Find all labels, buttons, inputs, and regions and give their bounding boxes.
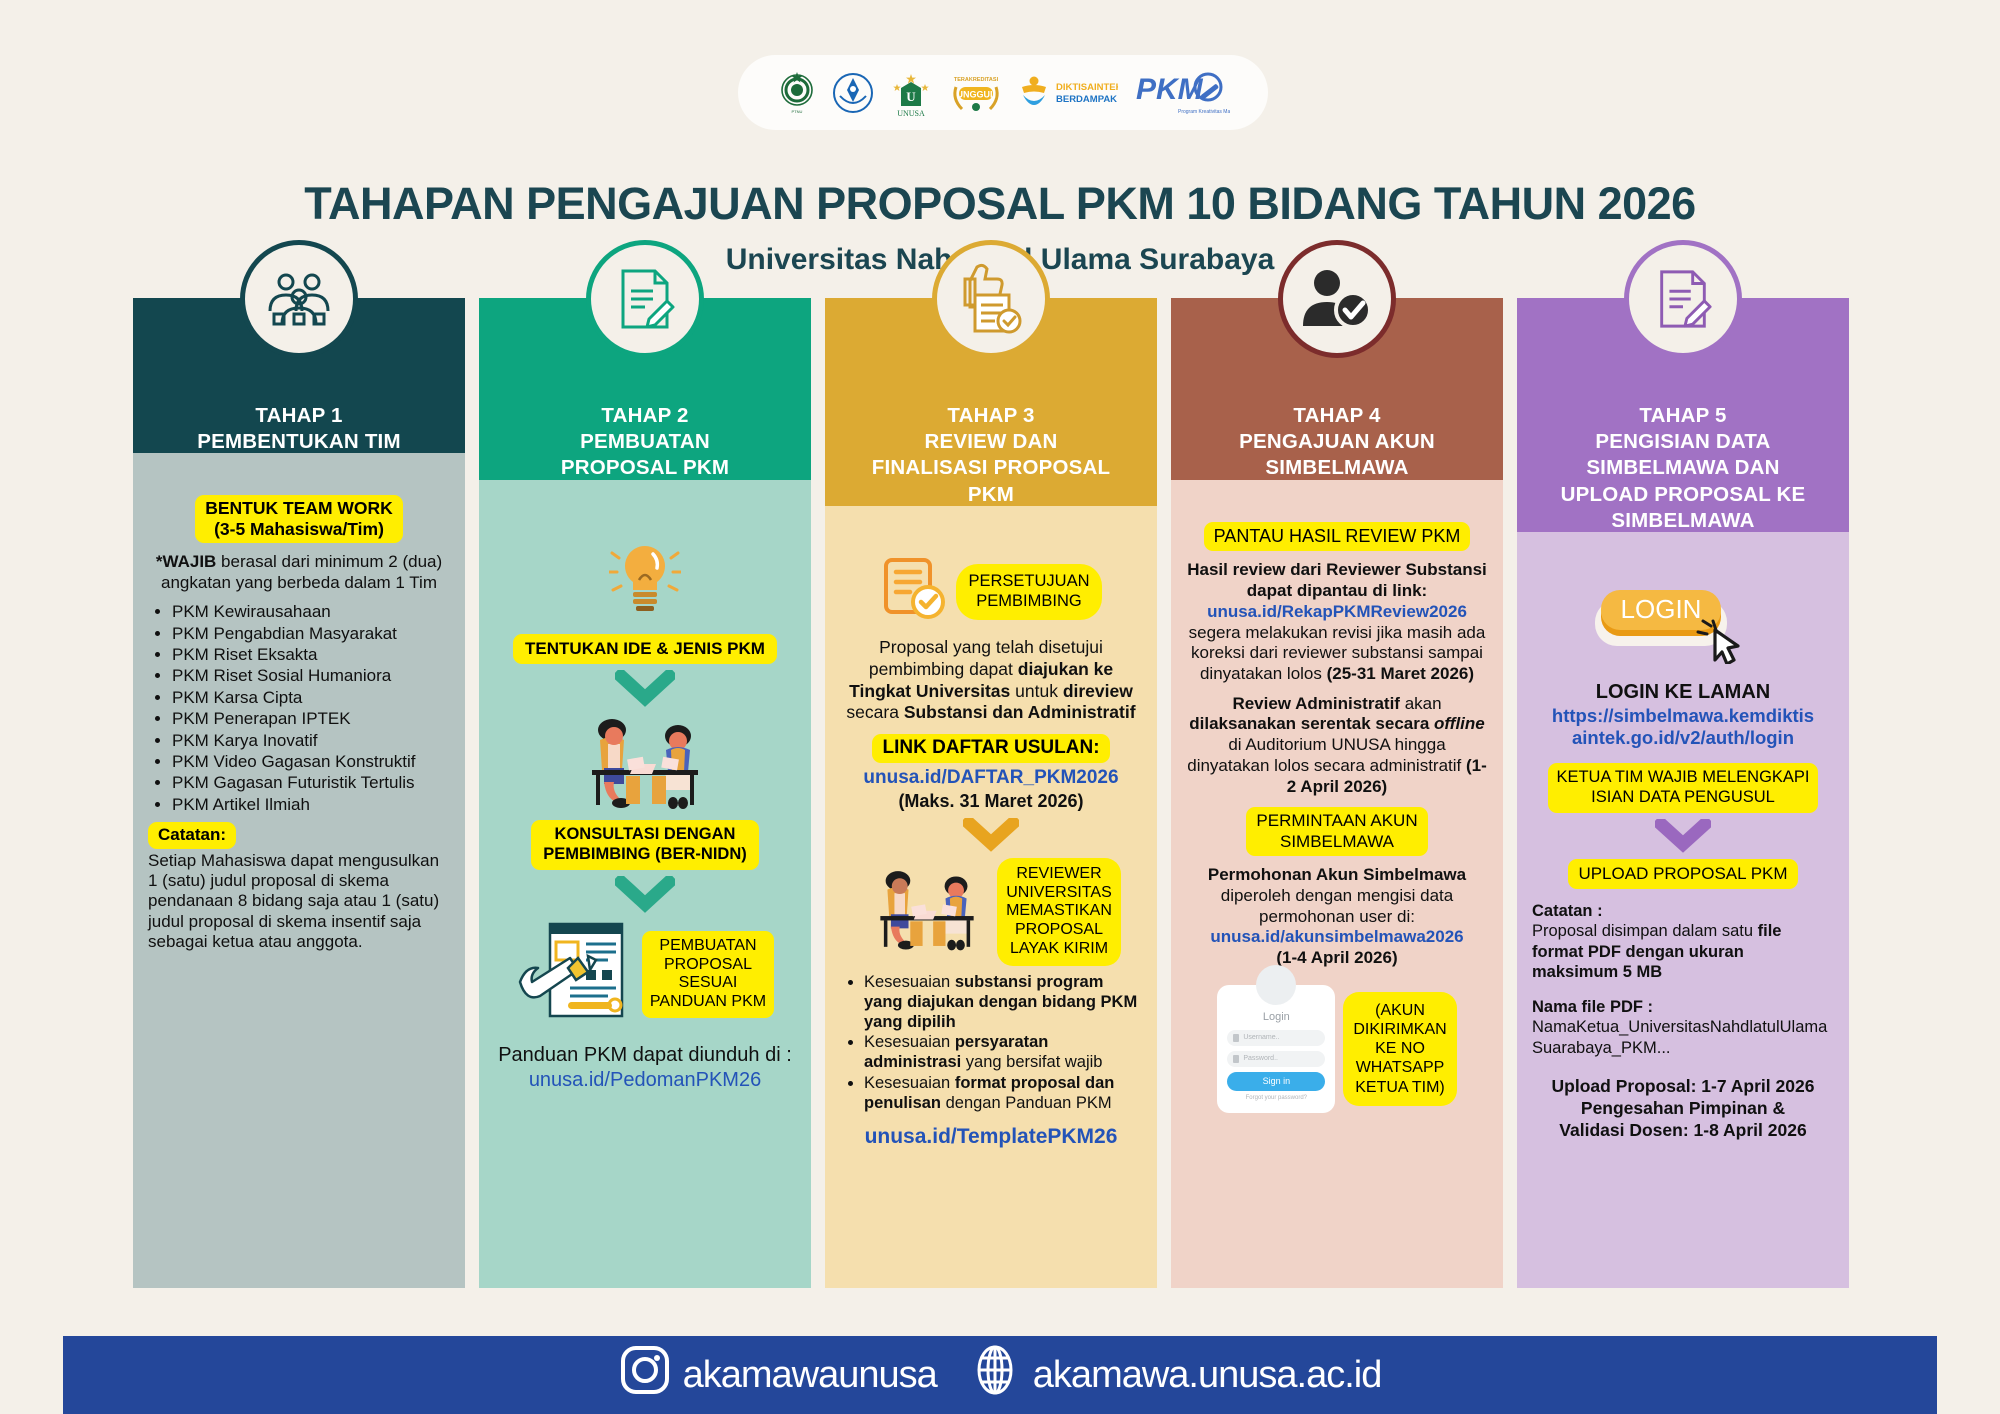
list-item: PKM Penerapan IPTEK [172, 709, 450, 729]
svg-text:Program Kreativitas Mahasiswa: Program Kreativitas Mahasiswa [1178, 109, 1230, 115]
stage-4-badge-3-line2: DIKIRIMKAN [1353, 1021, 1446, 1038]
user-check-icon [1278, 240, 1396, 358]
stage-1-heading-line2: PEMBENTUKAN TIM [145, 429, 453, 455]
svg-text:TERAKREDITASI: TERAKREDITASI [954, 77, 999, 83]
website-url: akamawa.unusa.ac.id [1033, 1354, 1382, 1397]
stage-5-heading-line3: SIMBELMAWA DAN [1529, 455, 1837, 481]
stage-5-dates-line3: Validasi Dosen: 1-8 April 2026 [1532, 1120, 1834, 1142]
svg-text:PTNU: PTNU [792, 109, 803, 114]
stage-3-link-label: LINK DAFTAR USULAN: [872, 734, 1109, 763]
stage-3-badge-2-line2: UNIVERSITAS [1006, 884, 1112, 901]
chevron-down-icon-3 [963, 818, 1019, 852]
stage-2-badge-3-line1: PEMBUATAN [659, 937, 756, 954]
document-pencil-purple-icon [1624, 240, 1742, 358]
chevron-down-icon [615, 670, 675, 708]
list-item: Kesesuaian format proposal dan penulisan… [864, 1074, 1142, 1114]
stage-5-login-url-line1: https://simbelmawa.kemdiktis [1552, 705, 1814, 726]
lightbulb-icon [494, 538, 796, 624]
stage-card-4: TAHAP 4 PENGAJUAN AKUN SIMBELMAWA PANTAU… [1171, 298, 1503, 1288]
stage-5-filename-label: Nama file PDF : [1532, 997, 1834, 1017]
login-form-mockup: Login Username.. Password.. Sign in Forg… [1217, 985, 1335, 1113]
stage-4-badge-3: (AKUN DIKIRIMKAN KE NO WHATSAPP KETUA TI… [1343, 992, 1456, 1106]
stage-2-badge-2: KONSULTASI DENGAN PEMBIMBING (BER-NIDN) [531, 820, 759, 870]
list-item: PKM Riset Eksakta [172, 645, 450, 665]
stage-3-badge-2-line1: REVIEWER [1016, 865, 1101, 882]
stage-3-badge-2-line5: LAYAK KIRIM [1010, 940, 1108, 957]
instagram-icon [619, 1344, 671, 1406]
stage-2-body: TENTUKAN IDE & JENIS PKM KONSULTASI DENG… [479, 480, 811, 1288]
document-approved-thumbsup-icon [932, 240, 1050, 358]
stage-3-heading-line4: PKM [837, 482, 1145, 508]
stage-3-badge-2: REVIEWER UNIVERSITAS MEMASTIKAN PROPOSAL… [997, 858, 1121, 966]
stage-5-heading-line2: PENGISIAN DATA [1529, 429, 1837, 455]
stage-2-pedoman-link[interactable]: unusa.id/PedomanPKM26 [494, 1068, 796, 1093]
stage-2-badge-3: PEMBUATAN PROPOSAL SESUAI PANDUAN PKM [642, 931, 774, 1019]
stage-5-badge-1-line2: ISIAN DATA PENGUSUL [1591, 788, 1775, 806]
login-button-graphic[interactable]: LOGIN [1583, 580, 1783, 670]
stages-container: TAHAP 1 PEMBENTUKAN TIM BENTUK TEAM WORK… [133, 298, 1873, 1288]
stage-4-heading-line2: PENGAJUAN AKUN [1183, 429, 1491, 455]
list-item: PKM Karya Inovatif [172, 731, 450, 751]
stage-3-badge-1-line1: PERSETUJUAN [968, 572, 1089, 590]
stage-4-badge-2: PERMINTAAN AKUN SIMBELMAWA [1246, 807, 1427, 856]
stage-5-note-text: Proposal disimpan dalam satu file format… [1532, 921, 1834, 982]
kemdikbud-tutwurihandayani-logo [832, 68, 874, 118]
stage-4-paragraph-3: Permohonan Akun Simbelmawa diperoleh den… [1186, 865, 1488, 969]
stage-4-paragraph-2: Review Administratif akan dilaksanakan s… [1186, 694, 1488, 798]
stage-4-badge-3-line3: KE NO [1375, 1040, 1425, 1057]
stage-card-2: TAHAP 2 PEMBUATAN PROPOSAL PKM TENTUKAN … [479, 298, 811, 1288]
stage-3-deadline: (Maks. 31 Maret 2026) [840, 790, 1142, 812]
stage-2-badge-3-line2: PROPOSAL [664, 956, 752, 973]
login-mock-username[interactable]: Username.. [1227, 1030, 1325, 1046]
footer-bar: akamawaunusa akamawa.unusa.ac.id [63, 1336, 1937, 1414]
stage-4-badge-3-line4: WHATSAPP [1356, 1059, 1445, 1076]
stage-1-fields-list: PKM KewirausahaanPKM Pengabdian Masyarak… [172, 602, 450, 815]
stage-5-badge-1-line1: KETUA TIM WAJIB MELENGKAPI [1556, 768, 1809, 786]
list-item: Kesesuaian persyaratan administrasi yang… [864, 1033, 1142, 1073]
stage-1-wajib-bold: *WAJIB [156, 552, 216, 571]
stage-card-1: TAHAP 1 PEMBENTUKAN TIM BENTUK TEAM WORK… [133, 298, 465, 1288]
stage-5-dates-line2: Pengesahan Pimpinan & [1532, 1098, 1834, 1120]
stage-4-badge-3-line1: (AKUN [1375, 1002, 1425, 1019]
stage-5-heading-line1: TAHAP 5 [1529, 403, 1837, 429]
stage-5-note-label: Catatan : [1532, 901, 1834, 921]
stage-2-badge-2-line1: KONSULTASI DENGAN [555, 825, 736, 843]
stage-3-daftar-link[interactable]: unusa.id/DAFTAR_PKM2026 [840, 766, 1142, 789]
two-people-at-table-icon [494, 714, 796, 816]
terakreditasi-unggul-logo: TERAKREDITASIUNGGUL [948, 68, 1004, 118]
stage-5-dates-line1: Upload Proposal: 1-7 April 2026 [1532, 1076, 1834, 1098]
stage-5-heading-line5: SIMBELMAWA [1529, 508, 1837, 534]
two-people-reviewing-icon [861, 863, 993, 961]
stage-3-badge-1: PERSETUJUAN PEMBIMBING [956, 564, 1101, 620]
stage-2-footer-text: Panduan PKM dapat diunduh di : [494, 1043, 796, 1068]
stage-1-wajib-text: *WAJIB berasal dari minimum 2 (dua) angk… [148, 552, 450, 594]
stage-card-3: TAHAP 3 REVIEW DAN FINALISASI PROPOSAL P… [825, 298, 1157, 1288]
stage-3-badge-2-line3: MEMASTIKAN [1006, 902, 1112, 919]
stage-3-heading-line1: TAHAP 3 [837, 403, 1145, 429]
stage-5-login-heading: LOGIN KE LAMAN [1532, 680, 1834, 705]
stage-3-paragraph: Proposal yang telah disetujui pembimbing… [840, 637, 1142, 725]
stage-1-heading-line1: TAHAP 1 [145, 403, 453, 429]
stage-2-heading-line2: PEMBUATAN [491, 429, 799, 455]
list-item: PKM Gagasan Futuristik Tertulis [172, 773, 450, 793]
page-title: TAHAPAN PENGAJUAN PROPOSAL PKM 10 BIDANG… [0, 178, 2000, 230]
stage-5-login-url[interactable]: https://simbelmawa.kemdiktis aintek.go.i… [1532, 705, 1834, 749]
avatar-placeholder-icon [1256, 965, 1296, 1005]
svg-text:UNGGUL: UNGGUL [957, 89, 996, 99]
stage-2-badge-2-line2: PEMBIMBING (BER-NIDN) [543, 845, 747, 863]
stage-4-body: PANTAU HASIL REVIEW PKM Hasil review dar… [1171, 480, 1503, 1288]
login-mock-password[interactable]: Password.. [1227, 1051, 1325, 1067]
stage-3-heading-line3: FINALISASI PROPOSAL [837, 455, 1145, 481]
list-item: PKM Artikel Ilmiah [172, 795, 450, 815]
document-pencil-icon [586, 240, 704, 358]
login-mock-forgot-link[interactable]: Forgot your password? [1227, 1095, 1325, 1102]
stage-1-note-label: Catatan: [148, 822, 236, 848]
team-group-icon [240, 240, 358, 358]
stage-3-template-link[interactable]: unusa.id/TemplatePKM26 [840, 1124, 1142, 1150]
stage-5-badge-1: KETUA TIM WAJIB MELENGKAPI ISIAN DATA PE… [1548, 763, 1817, 813]
stage-5-body: LOGIN LOGIN KE LAMAN https://simbelmawa.… [1517, 532, 1849, 1288]
globe-icon [969, 1344, 1021, 1406]
svg-text:BERDAMPAK: BERDAMPAK [1056, 94, 1117, 105]
unsa-logo: UUNUSA [888, 68, 934, 118]
chevron-down-icon-5 [1655, 819, 1711, 853]
stage-3-heading-line2: REVIEW DAN [837, 429, 1145, 455]
svg-text:PKM: PKM [1136, 73, 1204, 106]
stage-5-login-url-line2: aintek.go.id/v2/auth/login [1572, 727, 1794, 748]
stage-4-badge-2-line2: SIMBELMAWA [1280, 832, 1394, 851]
list-item: Kesesuaian substansi program yang diajuk… [864, 973, 1142, 1032]
svg-text:UNUSA: UNUSA [897, 109, 925, 118]
svg-text:LOGIN: LOGIN [1621, 594, 1702, 624]
stage-1-note-text: Setiap Mahasiswa dapat mengusulkan 1 (sa… [148, 851, 450, 953]
list-item: PKM Riset Sosial Humaniora [172, 666, 450, 686]
logo-bar: PTNU UUNUSA TERAKREDITASIUNGGUL DIKTISAI… [738, 55, 1268, 130]
stage-2-badge-3-line4: PANDUAN PKM [650, 993, 766, 1010]
stage-4-heading-line3: SIMBELMAWA [1183, 455, 1491, 481]
stage-1-badge-line1: BENTUK TEAM WORK [205, 498, 393, 518]
hand-writing-document-icon [516, 920, 636, 1030]
stage-1-note: Catatan: Setiap Mahasiswa dapat mengusul… [148, 822, 450, 952]
stage-3-badge-2-line4: PROPOSAL [1015, 921, 1103, 938]
login-mock-signin-button[interactable]: Sign in [1227, 1072, 1325, 1091]
stage-3-body: PERSETUJUAN PEMBIMBING Proposal yang tel… [825, 506, 1157, 1288]
stage-3-badge-1-line2: PEMBIMBING [976, 592, 1081, 610]
pkm-program-kreativitas-mahasiswa-logo: PKMProgram Kreativitas Mahasiswa [1132, 68, 1230, 118]
stage-4-badge-2-line1: PERMINTAAN AKUN [1256, 811, 1417, 830]
stage-card-5: TAHAP 5 PENGISIAN DATA SIMBELMAWA DAN UP… [1517, 298, 1849, 1288]
stage-1-badge: BENTUK TEAM WORK (3-5 Mahasiswa/Tim) [195, 495, 403, 543]
list-item: PKM Kewirausahaan [172, 602, 450, 622]
ptnu-logo: PTNU [776, 68, 818, 118]
stage-2-badge-1: TENTUKAN IDE & JENIS PKM [513, 634, 777, 664]
stage-4-badge-3-line5: KETUA TIM) [1355, 1079, 1445, 1096]
stage-1-body: BENTUK TEAM WORK (3-5 Mahasiswa/Tim) *WA… [133, 453, 465, 1288]
stage-2-heading-line1: TAHAP 2 [491, 403, 799, 429]
list-item: PKM Video Gagasan Konstruktif [172, 752, 450, 772]
login-mock-title: Login [1227, 1011, 1325, 1025]
stage-4-paragraph-1: Hasil review dari Reviewer Substansi dap… [1186, 560, 1488, 684]
svg-text:U: U [906, 89, 916, 104]
website-link[interactable]: akamawa.unusa.ac.id [969, 1344, 1382, 1406]
svg-text:DIKTISAINTEK: DIKTISAINTEK [1056, 82, 1118, 93]
instagram-link[interactable]: akamawaunusa [619, 1344, 937, 1406]
stage-4-badge-1: PANTAU HASIL REVIEW PKM [1204, 522, 1471, 552]
document-check-icon [880, 556, 948, 628]
stage-1-badge-line2: (3-5 Mahasiswa/Tim) [214, 519, 384, 539]
chevron-down-icon-2 [615, 876, 675, 914]
list-item: PKM Pengabdian Masyarakat [172, 624, 450, 644]
stage-5-heading-line4: UPLOAD PROPOSAL KE [1529, 482, 1837, 508]
list-item: PKM Karsa Cipta [172, 688, 450, 708]
instagram-handle: akamawaunusa [683, 1354, 937, 1397]
stage-2-badge-3-line3: SESUAI [679, 974, 738, 991]
diktisaintek-berdampak-logo: DIKTISAINTEKBERDAMPAK [1018, 68, 1118, 118]
stage-5-badge-2: UPLOAD PROPOSAL PKM [1568, 859, 1797, 889]
stage-4-heading-line1: TAHAP 4 [1183, 403, 1491, 429]
stage-2-heading-line3: PROPOSAL PKM [491, 455, 799, 481]
stage-3-checklist: Kesesuaian substansi program yang diajuk… [864, 973, 1142, 1114]
stage-5-filename-value: NamaKetua_UniversitasNahdlatulUlamaSuara… [1532, 1017, 1834, 1058]
